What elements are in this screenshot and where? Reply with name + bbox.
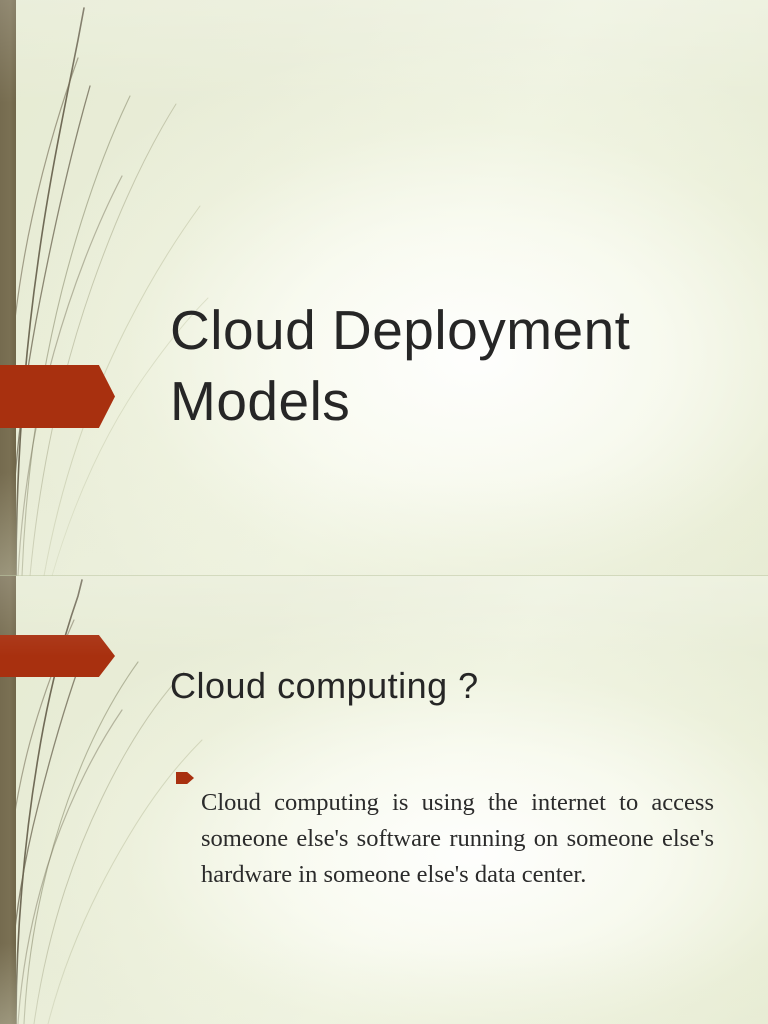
arrow-bullet-marker (176, 772, 194, 784)
red-arrow-banner (0, 365, 115, 428)
slide-1: Cloud Deployment Models (0, 0, 768, 576)
bullet-text: Cloud computing is using the internet to… (201, 785, 714, 893)
slide-title: Cloud computing ? (170, 663, 710, 709)
red-arrow-banner (0, 635, 115, 677)
slide-1-background (0, 0, 768, 576)
slide-deck-page: Cloud Deployment Models Cloud computing … (0, 0, 768, 1024)
slide-2: Cloud computing ? Cloud computing is usi… (0, 576, 768, 1024)
slide-divider (0, 575, 768, 576)
slide-title: Cloud Deployment Models (170, 295, 730, 437)
bullet-list-item: Cloud computing is using the internet to… (176, 760, 714, 917)
left-accent-bar (0, 0, 16, 576)
